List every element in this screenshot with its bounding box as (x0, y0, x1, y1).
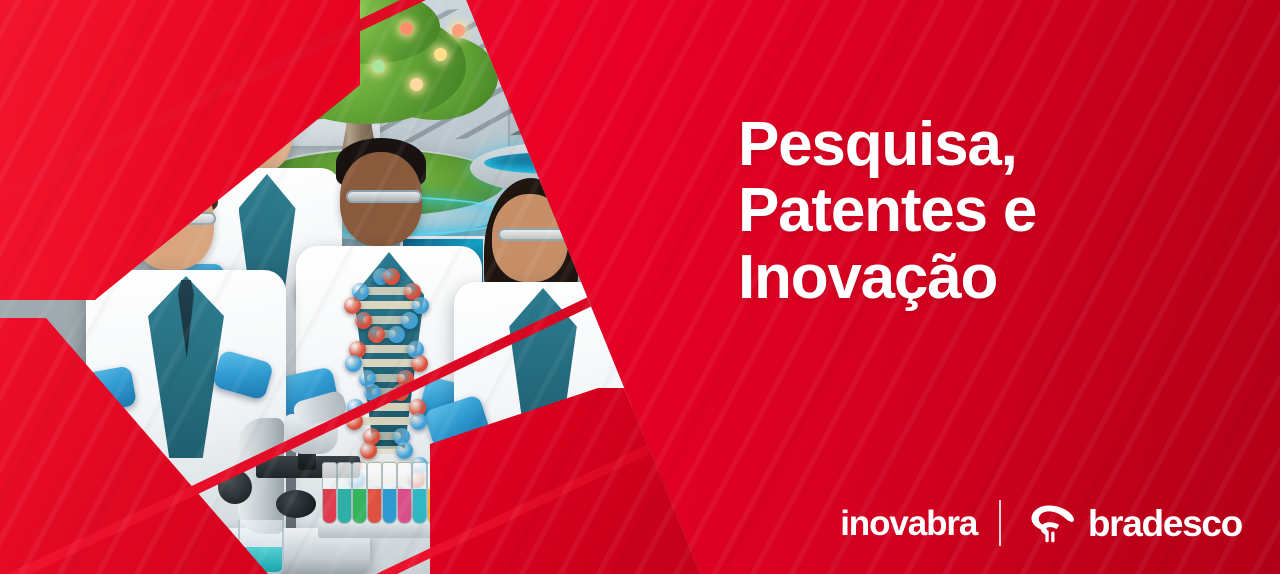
hero-photo (0, 0, 700, 574)
glowing-fruit (434, 48, 447, 61)
futuristic-console (470, 142, 650, 194)
dna-nucleotide (411, 355, 428, 372)
banner-root: Pesquisa, Patentes e Inovação inovabra b… (0, 0, 1280, 574)
safety-goggles (346, 190, 422, 203)
test-tube-rack (318, 452, 442, 538)
headline-line-3: Inovação (738, 245, 1238, 311)
test-tube (382, 462, 397, 524)
dna-nucleotide (355, 312, 372, 329)
dna-nucleotide (412, 297, 429, 314)
glowing-fruit (372, 60, 385, 73)
dna-nucleotide (401, 312, 418, 329)
glowing-fruit (400, 22, 413, 35)
headline-line-2: Patentes e (738, 178, 1238, 244)
test-tube (412, 462, 427, 524)
page-title: Pesquisa, Patentes e Inovação (738, 112, 1238, 311)
safety-goggles (498, 228, 568, 241)
test-tube (397, 462, 412, 524)
dna-nucleotide (410, 413, 427, 430)
test-tube (352, 462, 367, 524)
dna-nucleotide (388, 326, 405, 343)
dna-nucleotide (344, 297, 361, 314)
dna-base-pair (352, 301, 420, 309)
test-tube (322, 462, 337, 524)
bradesco-logo[interactable]: bradesco (1023, 502, 1242, 544)
dna-base-pair (353, 359, 419, 367)
logo-divider (999, 500, 1001, 546)
glowing-fruit (452, 24, 465, 37)
bradesco-tree-icon (1023, 502, 1077, 544)
focus-knob (276, 490, 316, 518)
test-tube (367, 462, 382, 524)
dna-nucleotide (383, 268, 400, 285)
dna-nucleotide (368, 326, 385, 343)
logo-lockup[interactable]: inovabra bradesco (840, 500, 1242, 546)
dna-nucleotide (345, 355, 362, 372)
test-tube (337, 462, 352, 524)
bradesco-wordmark[interactable]: bradesco (1088, 505, 1242, 542)
headline-line-1: Pesquisa, (738, 112, 1238, 178)
inovabra-wordmark[interactable]: inovabra (840, 506, 977, 541)
glowing-fruit (410, 78, 423, 91)
